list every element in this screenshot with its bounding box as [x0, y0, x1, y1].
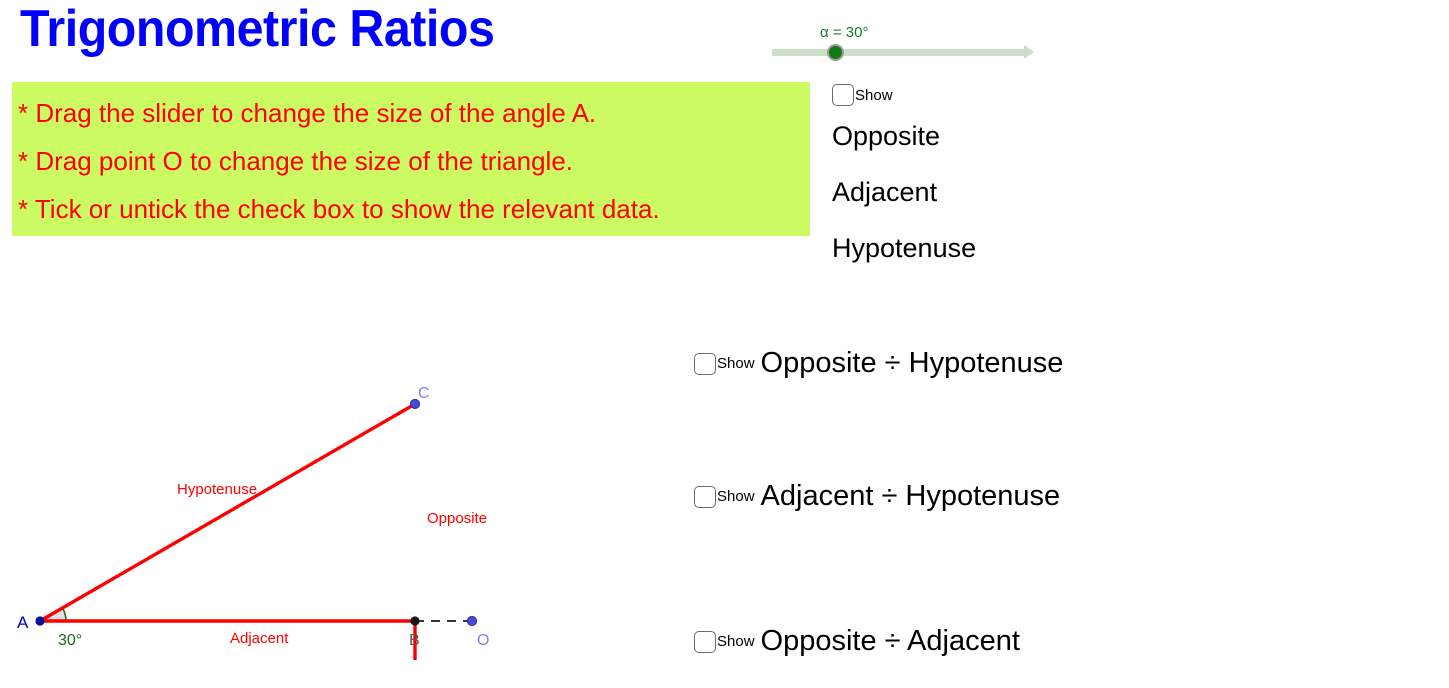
instruction-line-1: * Drag the slider to change the size of …: [18, 89, 810, 137]
instructions-box: * Drag the slider to change the size of …: [12, 82, 810, 236]
point-b-label: B: [409, 632, 420, 649]
alpha-slider[interactable]: α = 30°: [772, 24, 1034, 66]
ratio-row-adjacent-over-hypotenuse[interactable]: Show Adjacent ÷ Hypotenuse: [694, 480, 1060, 513]
show-opposite-over-hypotenuse-checkbox[interactable]: [694, 353, 716, 375]
side-opposite-label: Opposite: [427, 510, 487, 527]
show-label: Show: [717, 488, 755, 505]
show-adjacent-over-hypotenuse-checkbox[interactable]: [694, 486, 716, 508]
point-a-label: A: [17, 613, 29, 632]
point-c-label: C: [418, 385, 430, 402]
angle-value-label: 30°: [58, 632, 82, 649]
show-label: Show: [717, 355, 755, 372]
page-title: Trigonometric Ratios: [20, 0, 494, 61]
point-o-dot: [467, 616, 476, 625]
alpha-slider-knob[interactable]: [827, 44, 844, 61]
ratio-row-opposite-over-adjacent[interactable]: Show Opposite ÷ Adjacent: [694, 625, 1020, 658]
show-opposite-over-adjacent-checkbox[interactable]: [694, 631, 716, 653]
show-labels-checkbox[interactable]: [832, 84, 854, 106]
point-o-label: O: [477, 632, 489, 649]
alpha-slider-track[interactable]: [772, 49, 1024, 56]
triangle-figure[interactable]: A B C O 30° Hypotenuse Opposite Adjacent: [0, 370, 540, 660]
point-b-dot: [410, 616, 419, 625]
alpha-slider-label: α = 30°: [820, 24, 868, 41]
side-hypotenuse-label: Hypotenuse: [177, 481, 257, 498]
ratio-label: Opposite ÷ Adjacent: [761, 625, 1020, 658]
ratio-label: Adjacent ÷ Hypotenuse: [761, 480, 1061, 513]
show-labels-row[interactable]: Show: [832, 82, 1152, 108]
ratio-label: Opposite ÷ Hypotenuse: [761, 347, 1064, 380]
slider-arrow-icon: [1024, 45, 1034, 59]
show-labels-checkbox-label: Show: [855, 87, 893, 104]
instruction-line-3: * Tick or untick the check box to show t…: [18, 185, 810, 233]
instruction-line-2: * Drag point O to change the size of the…: [18, 137, 810, 185]
ratio-row-opposite-over-hypotenuse[interactable]: Show Opposite ÷ Hypotenuse: [694, 347, 1063, 380]
label-hypotenuse: Hypotenuse: [832, 220, 1152, 276]
show-label: Show: [717, 633, 755, 650]
point-a-dot: [35, 616, 44, 625]
label-opposite: Opposite: [832, 108, 1152, 164]
side-labels-panel: Show Opposite Adjacent Hypotenuse: [832, 82, 1152, 276]
label-adjacent: Adjacent: [832, 164, 1152, 220]
side-adjacent-label: Adjacent: [230, 630, 289, 647]
side-hypotenuse-line: [40, 404, 415, 621]
